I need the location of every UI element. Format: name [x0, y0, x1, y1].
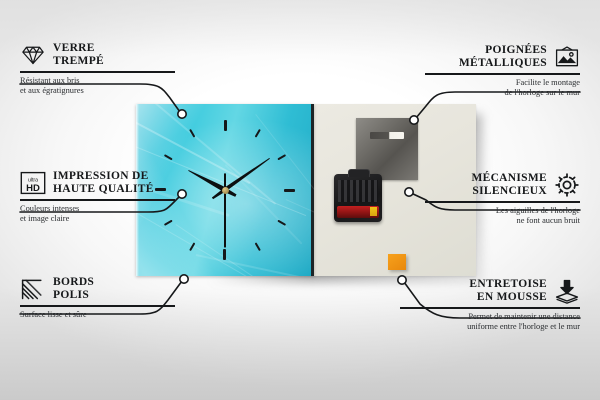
feather-streak	[225, 164, 303, 245]
second-hand	[224, 173, 226, 247]
callout-verre-trempe: VERRETREMPÉ Résistant aux briset aux égr…	[20, 42, 175, 96]
callout-title: IMPRESSION DEHAUTE QUALITÉ	[53, 170, 154, 195]
callout-title: VERRETREMPÉ	[53, 42, 104, 67]
mechanism-hanger	[348, 169, 370, 177]
spacer-arrow-icon	[554, 278, 580, 304]
callout-subtitle: Résistant aux briset aux égratignures	[20, 76, 175, 97]
callout-rule	[20, 71, 175, 73]
callout-mecanisme: MÉCANISMESILENCIEUX Les aiguilles de l'h…	[425, 172, 580, 226]
callout-subtitle: Couleurs intenseset image claire	[20, 204, 175, 225]
callout-bords-polis: BORDSPOLIS Surface lisse et sûre	[20, 276, 175, 320]
callout-header: ultra HD IMPRESSION DEHAUTE QUALITÉ	[20, 170, 175, 196]
callout-entretoise: ENTRETOISEEN MOUSSE Permet de maintenir …	[400, 278, 580, 332]
mechanism-body	[338, 180, 378, 202]
callout-header: ENTRETOISEEN MOUSSE	[400, 278, 580, 304]
ultra-hd-icon: ultra HD	[20, 170, 46, 196]
diamond-icon	[20, 42, 46, 68]
callout-subtitle: Surface lisse et sûre	[20, 310, 175, 320]
callout-title: MÉCANISMESILENCIEUX	[471, 172, 547, 197]
callout-title: ENTRETOISEEN MOUSSE	[469, 278, 547, 303]
callout-rule	[20, 199, 175, 201]
hatched-edge-icon	[20, 276, 46, 302]
callout-rule	[400, 307, 580, 309]
callout-header: BORDSPOLIS	[20, 276, 175, 302]
gear-icon	[554, 172, 580, 198]
battery	[337, 206, 379, 218]
callout-subtitle: Facilite le montagede l'horloge sur le m…	[425, 78, 580, 99]
callout-impression: ultra HD IMPRESSION DEHAUTE QUALITÉ Coul…	[20, 170, 175, 224]
callout-subtitle: Permet de maintenir une distanceuniforme…	[400, 312, 580, 333]
callout-rule	[20, 305, 175, 307]
callout-title: BORDSPOLIS	[53, 276, 94, 301]
callout-poignees: POIGNÉESMÉTALLIQUES Facilite le montaged…	[425, 44, 580, 98]
svg-text:HD: HD	[26, 183, 40, 194]
infographic-canvas: VERRETREMPÉ Résistant aux briset aux égr…	[0, 0, 600, 400]
hand-center-cap	[222, 187, 229, 194]
callout-rule	[425, 201, 580, 203]
callout-title: POIGNÉESMÉTALLIQUES	[459, 44, 547, 69]
foam-spacer	[388, 254, 406, 270]
callout-subtitle: Les aiguilles de l'horlogene font aucun …	[425, 206, 580, 227]
plate-slot	[370, 132, 404, 139]
tick-mark	[225, 189, 295, 191]
callout-header: MÉCANISMESILENCIEUX	[425, 172, 580, 198]
framed-picture-icon	[554, 44, 580, 70]
callout-header: VERRETREMPÉ	[20, 42, 175, 68]
callout-rule	[425, 73, 580, 75]
feather-streak	[175, 224, 300, 276]
callout-header: POIGNÉESMÉTALLIQUES	[425, 44, 580, 70]
clock-mechanism	[334, 174, 382, 222]
